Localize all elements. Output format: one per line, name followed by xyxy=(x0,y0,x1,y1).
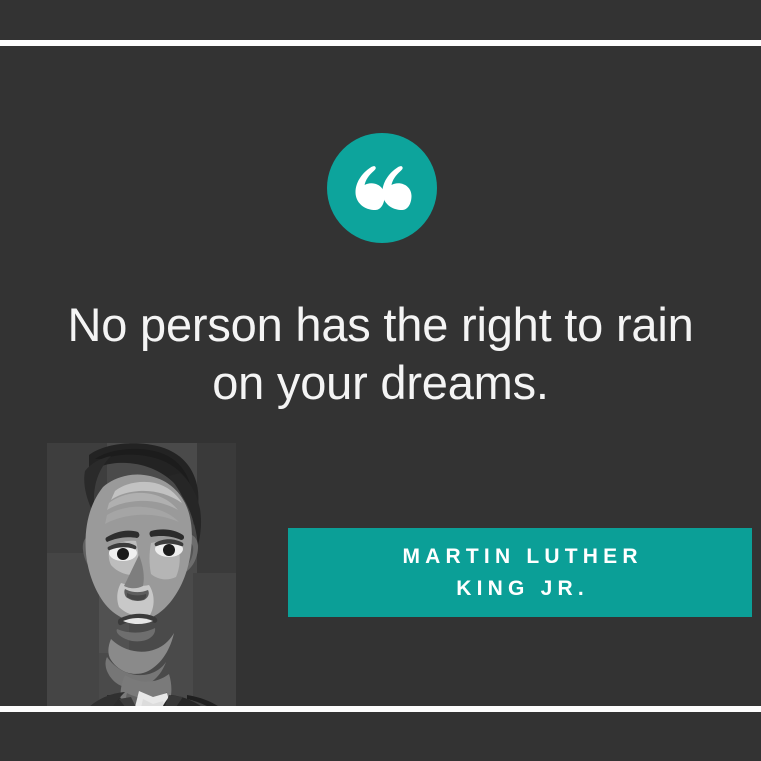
quote-poster: No person has the right to rain on your … xyxy=(0,0,761,761)
attribution-line-2: KING JR. xyxy=(451,573,589,605)
bottom-band xyxy=(0,712,761,761)
top-band xyxy=(0,0,761,40)
attribution-banner: MARTIN LUTHER KING JR. xyxy=(288,528,752,617)
quote-card: No person has the right to rain on your … xyxy=(0,46,761,706)
quote-badge xyxy=(327,133,437,243)
quote-text: No person has the right to rain on your … xyxy=(40,296,721,412)
attribution-line-1: MARTIN LUTHER xyxy=(397,541,642,573)
portrait-image xyxy=(47,443,236,717)
double-quote-icon xyxy=(352,166,412,210)
